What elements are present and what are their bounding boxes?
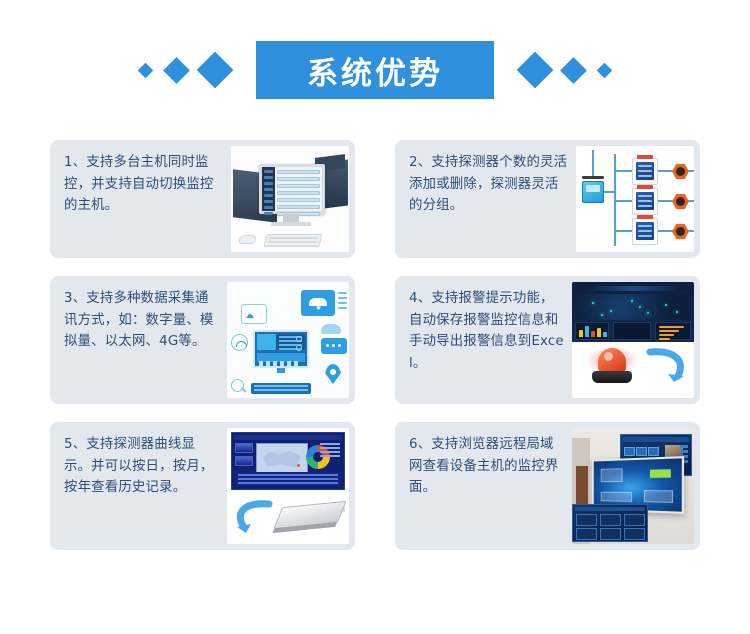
advantage-card-5-text: 5、支持探测器曲线显示。并可以按日，按月，按年查看历史记录。	[50, 422, 227, 550]
chat-bubble-icon	[321, 338, 347, 354]
user-search-icon	[231, 379, 244, 392]
iot-communication-icons-image	[227, 282, 349, 398]
monitor-grid-screen	[572, 504, 648, 542]
alarm-dashboard	[572, 282, 694, 342]
advantage-card-2-text: 2、支持探测器个数的灵活添加或删除，探测器灵活的分组。	[395, 140, 576, 258]
keyboard-icon	[251, 383, 311, 394]
location-pin-icon	[325, 364, 341, 384]
hard-drive-icon	[273, 501, 347, 530]
diamond-icon-medium-right	[560, 57, 587, 84]
diamond-icon-large-left	[197, 52, 234, 89]
detector-icon	[672, 163, 689, 180]
wifi-icon	[231, 334, 248, 351]
advantage-card-1: 1、支持多台主机同时监控，并支持自动切换监控的主机。	[50, 140, 355, 258]
diamond-decoration-right	[522, 57, 610, 83]
history-dashboard-harddrive-image	[227, 428, 349, 544]
controller-icon	[632, 218, 658, 245]
multi-monitor-workstation-image	[231, 146, 349, 252]
page-header: 系统优势	[0, 0, 750, 140]
history-dashboard	[231, 432, 345, 490]
diamond-icon-small-left	[138, 62, 154, 78]
diamond-icon-large-right	[517, 52, 554, 89]
alarm-beacon-icon	[598, 348, 626, 372]
advantage-card-6: 6、支持浏览器远程局域网查看设备主机的监控界面。	[395, 422, 700, 550]
arrow-icon	[644, 348, 688, 384]
advantage-card-2: 2、支持探测器个数的灵活添加或删除，探测器灵活的分组。	[395, 140, 700, 258]
cloud-icon	[321, 324, 341, 334]
detector-network-diagram-image	[576, 146, 694, 252]
diamond-icon-medium-left	[163, 57, 190, 84]
advantage-card-4: 4、支持报警提示功能，自动保存报警监控信息和手动导出报警信息到Excel。	[395, 276, 700, 404]
page-title: 系统优势	[307, 48, 443, 93]
controller-icon	[632, 158, 658, 185]
cloud-download-icon	[301, 290, 335, 316]
monitor-icon	[253, 330, 309, 368]
arrow-icon	[231, 500, 275, 534]
remote-display-screens-image	[572, 428, 694, 544]
controller-icon	[632, 188, 658, 215]
advantage-card-5: 5、支持探测器曲线显示。并可以按日，按月，按年查看历史记录。	[50, 422, 355, 550]
advantage-card-3-text: 3、支持多种数据采集通讯方式，如：数字量、模拟量、以太网、4G等。	[50, 276, 227, 404]
diamond-decoration-left	[140, 57, 228, 83]
diamond-icon-small-right	[597, 62, 613, 78]
advantages-grid: 1、支持多台主机同时监控，并支持自动切换监控的主机。 2、支持探测器个数的灵活添…	[0, 140, 750, 550]
advantage-card-3: 3、支持多种数据采集通讯方式，如：数字量、模拟量、以太网、4G等。	[50, 276, 355, 404]
advantage-card-6-text: 6、支持浏览器远程局域网查看设备主机的监控界面。	[395, 422, 572, 550]
advantage-card-4-text: 4、支持报警提示功能，自动保存报警监控信息和手动导出报警信息到Excel。	[395, 276, 572, 404]
detector-icon	[672, 193, 689, 210]
alarm-dashboard-beacon-image	[572, 282, 694, 398]
detector-icon	[672, 223, 689, 240]
gateway-icon	[582, 181, 604, 203]
title-banner: 系统优势	[256, 41, 494, 99]
chart-card-icon	[241, 304, 267, 324]
advantage-card-1-text: 1、支持多台主机同时监控，并支持自动切换监控的主机。	[50, 140, 231, 258]
